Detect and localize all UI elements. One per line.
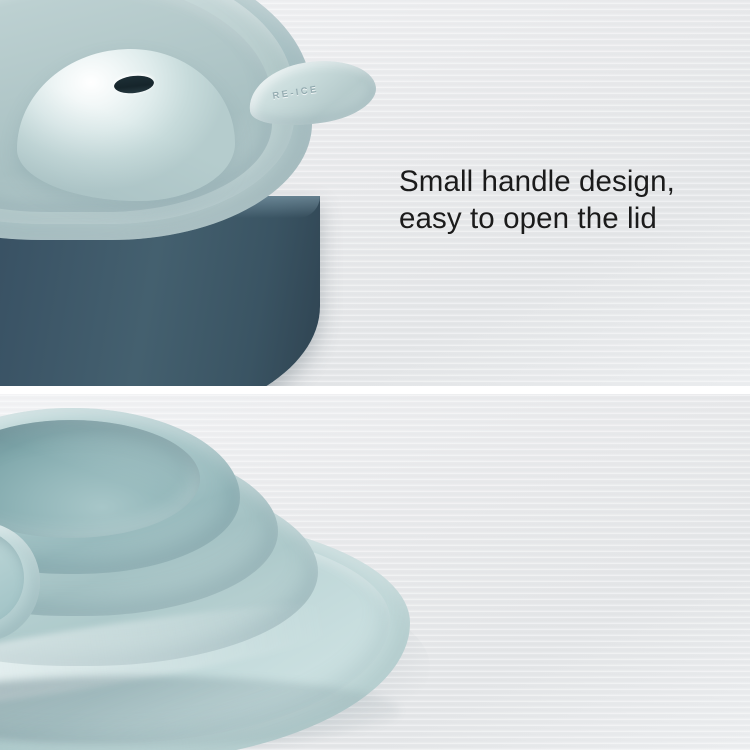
- caption-top-line-1: Small handle design,: [399, 163, 675, 200]
- panel-small-handle: RE-ICE Small handle design, easy to open…: [0, 0, 750, 388]
- product-photo-lid-and-base: RE-ICE: [0, 0, 388, 388]
- caption-small-handle: Small handle design, easy to open the li…: [399, 163, 675, 237]
- product-photo-raised-edge: [0, 394, 430, 750]
- product-image-sheet: RE-ICE Small handle design, easy to open…: [0, 0, 750, 750]
- caption-top-line-2: easy to open the lid: [399, 200, 675, 237]
- panel-divider: [0, 386, 750, 394]
- panel-raised-edge: Raise the edge to prevent overflow: [0, 394, 750, 750]
